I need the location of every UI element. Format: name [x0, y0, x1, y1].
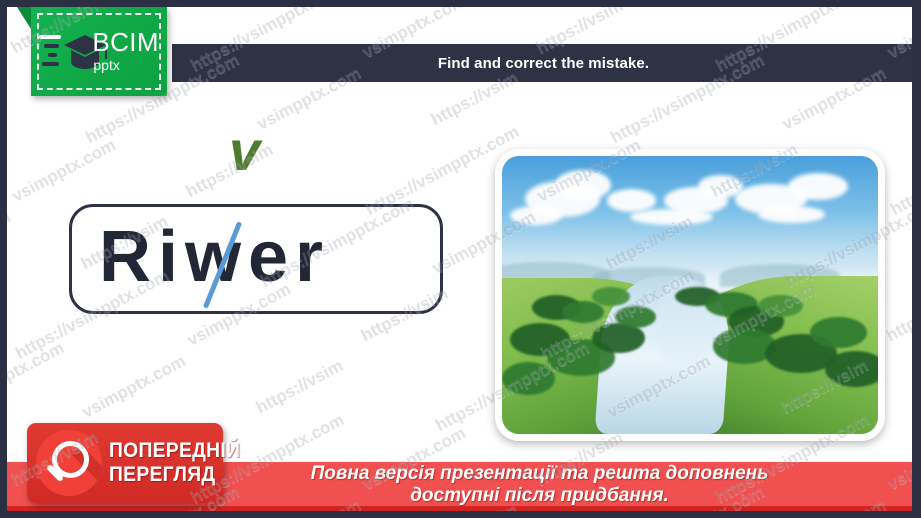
logo-wordmark: BCIM pptx	[92, 29, 159, 72]
river-photo-frame	[495, 149, 885, 441]
preview-badge-line1: ПОПЕРЕДНІЙ	[109, 439, 240, 462]
logo-corner-fold	[17, 7, 31, 29]
watermark-text: vsimpptx.com	[9, 135, 119, 206]
page-title: Find and correct the mistake.	[438, 55, 649, 72]
logo-sub-text: pptx	[93, 58, 159, 72]
bcim-pptx-logo[interactable]: BCIM pptx	[31, 7, 167, 96]
watermark-text: https://vsim	[883, 284, 912, 346]
banner-underline	[7, 506, 912, 511]
watermark-text: vsimpptx.com	[79, 351, 189, 422]
purchase-banner-text: Повна версія презентації та решта доповн…	[151, 463, 769, 510]
correction-letter: v	[229, 123, 260, 179]
slide-canvas: Find and correct the mistake. BCIM pptx …	[7, 7, 912, 511]
purchase-banner-line2: доступні після придбання.	[410, 485, 669, 506]
header-bar: Find and correct the mistake.	[172, 44, 912, 82]
magnifier-icon	[36, 430, 102, 496]
preview-badge[interactable]: ПОПЕРЕДНІЙ ПЕРЕГЛЯД	[27, 423, 223, 503]
purchase-banner-line1: Повна версія презентації та решта доповн…	[311, 463, 769, 484]
preview-badge-line2: ПЕРЕГЛЯД	[109, 463, 215, 486]
watermark-text: https://vsimpptx.com	[7, 338, 68, 436]
logo-brand-text: BCIM	[92, 29, 159, 55]
river-landscape-photo	[502, 156, 878, 434]
word-text: Riwer	[99, 207, 439, 307]
watermark-text: https://vsim	[253, 356, 347, 418]
preview-badge-text: ПОПЕРЕДНІЙ ПЕРЕГЛЯД	[109, 439, 240, 487]
watermark-text: vsimpptx.com	[7, 207, 14, 278]
watermark-text: https://vsimpptx.com	[887, 122, 912, 220]
